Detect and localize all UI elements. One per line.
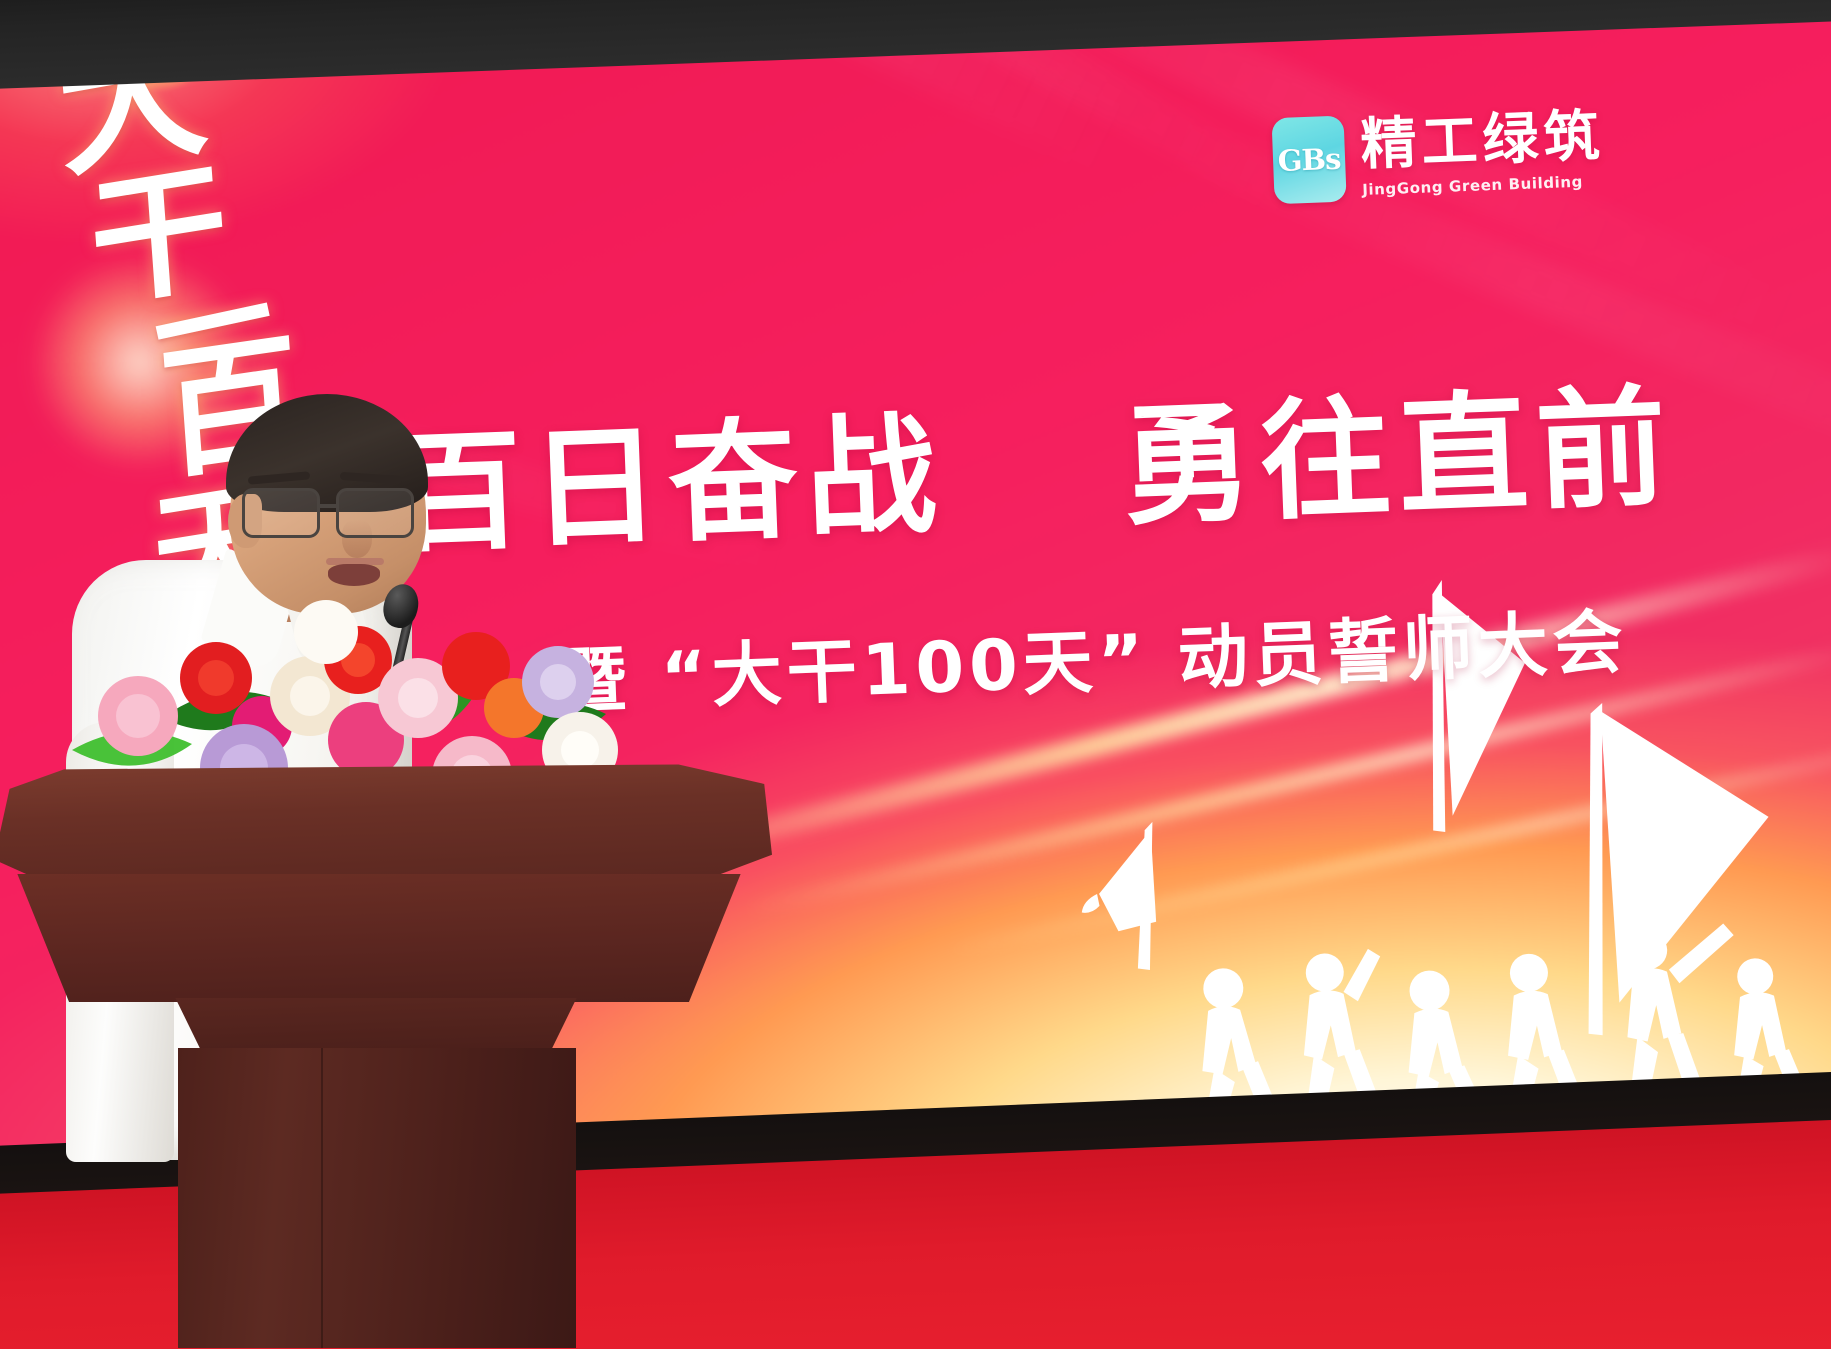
headline-gap [999, 515, 1071, 518]
lectern-neck [148, 998, 604, 1054]
bloom-lily [294, 600, 358, 664]
logo-company-cn: 精工绿筑 [1360, 108, 1606, 173]
lens-right [336, 488, 414, 538]
headline-right: 勇往直前 [1120, 371, 1677, 544]
lectern-top [0, 762, 772, 884]
large-flag-silhouette [1528, 695, 1831, 1126]
eyeglasses-icon [236, 488, 426, 542]
gbs-logo-icon: GBs [1272, 116, 1347, 205]
logo-text-block: 精工绿筑 JingGong Green Building [1360, 108, 1607, 198]
lectern-column [178, 1048, 576, 1348]
speaker-mouth [328, 564, 380, 586]
logo-mark-text: GBs [1277, 142, 1341, 178]
screenshot-stage: 大 干 一 百 天 百日奋战 勇往直前 暨 “大干100天” 动员誓师大会 GB… [0, 0, 1831, 1349]
lens-left [242, 488, 320, 538]
company-logo: GBs 精工绿筑 JingGong Green Building [1272, 106, 1607, 204]
wooden-lectern [0, 762, 800, 1349]
lectern-front-panel [10, 874, 748, 1002]
